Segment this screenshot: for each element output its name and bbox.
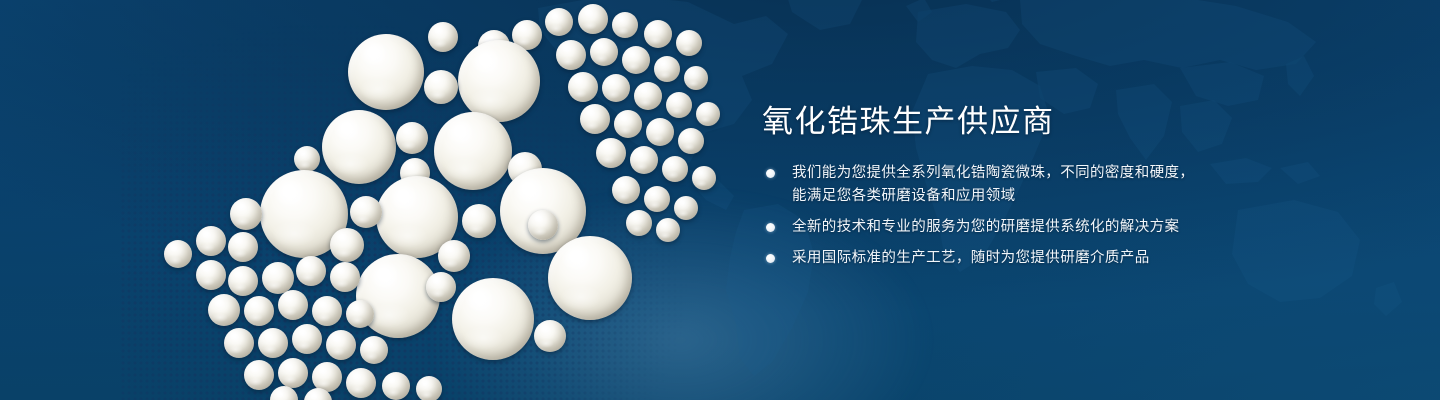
- bead-small: [346, 368, 376, 398]
- bead-small: [258, 328, 288, 358]
- bead-small: [622, 46, 650, 74]
- bead-small: [556, 40, 586, 70]
- bead-small: [662, 156, 688, 182]
- bead-medium: [230, 198, 262, 230]
- bead-small: [360, 336, 388, 364]
- bead-small: [312, 296, 342, 326]
- bead-small: [228, 232, 258, 262]
- bead-small: [545, 8, 573, 36]
- bead-medium: [350, 196, 382, 228]
- bead-small: [224, 328, 254, 358]
- bead-small: [278, 358, 308, 388]
- bead-large: [322, 110, 396, 184]
- bead-small: [674, 196, 698, 220]
- bead-small: [580, 104, 610, 134]
- banner-copy: 氧化锆珠生产供应商 我们能为您提供全系列氧化锆陶瓷微珠，不同的密度和硬度， 能满…: [762, 104, 1322, 270]
- bead-small: [296, 256, 326, 286]
- bead-small: [208, 294, 240, 326]
- bead-small: [270, 386, 298, 400]
- bead-small: [578, 4, 608, 34]
- bead-small: [416, 376, 442, 400]
- list-item-line: 我们能为您提供全系列氧化锆陶瓷微珠，不同的密度和硬度，: [792, 162, 1322, 185]
- bead-small: [278, 290, 308, 320]
- bead-small: [692, 166, 716, 190]
- bead-small: [262, 262, 294, 294]
- bead-small: [676, 30, 702, 56]
- bead-large: [458, 40, 540, 122]
- bead-small: [292, 324, 322, 354]
- bead-small: [196, 260, 226, 290]
- bead-large: [348, 34, 424, 110]
- bead-medium: [426, 272, 456, 302]
- page-title: 氧化锆珠生产供应商: [762, 104, 1322, 140]
- bead-small: [568, 72, 598, 102]
- bead-small: [228, 266, 258, 296]
- list-item-line: 能满足您各类研磨设备和应用领域: [792, 185, 1322, 208]
- bullet-dot-icon: [766, 169, 775, 178]
- bead-medium: [424, 70, 458, 104]
- bead-small: [326, 330, 356, 360]
- bullet-dot-icon: [766, 223, 775, 232]
- bead-small: [614, 110, 642, 138]
- list-item-line: 全新的技术和专业的服务为您的研磨提供系统化的解决方案: [792, 216, 1322, 239]
- bead-small: [196, 226, 226, 256]
- list-item: 采用国际标准的生产工艺，随时为您提供研磨介质产品: [762, 247, 1322, 270]
- bead-small: [244, 360, 274, 390]
- feature-list: 我们能为您提供全系列氧化锆陶瓷微珠，不同的密度和硬度， 能满足您各类研磨设备和应…: [762, 162, 1322, 270]
- bead-large: [548, 236, 632, 320]
- bead-small: [666, 92, 692, 118]
- bead-small: [684, 66, 708, 90]
- bead-large: [434, 112, 512, 190]
- bead-small: [654, 56, 680, 82]
- bead-medium: [528, 210, 558, 240]
- bead-small: [590, 38, 618, 66]
- bead-medium: [330, 228, 364, 262]
- bead-small: [630, 146, 658, 174]
- bead-small: [596, 138, 626, 168]
- bead-small: [164, 240, 192, 268]
- bead-small: [644, 20, 672, 48]
- zirconia-beads-cluster: [0, 0, 760, 400]
- list-item: 我们能为您提供全系列氧化锆陶瓷微珠，不同的密度和硬度， 能满足您各类研磨设备和应…: [762, 162, 1322, 208]
- bead-small: [612, 12, 638, 38]
- bead-medium: [438, 240, 470, 272]
- bead-medium: [428, 22, 458, 52]
- hero-banner: 氧化锆珠生产供应商 我们能为您提供全系列氧化锆陶瓷微珠，不同的密度和硬度， 能满…: [0, 0, 1440, 400]
- bead-small: [602, 74, 630, 102]
- bead-medium: [462, 204, 496, 238]
- bead-small: [626, 210, 652, 236]
- bead-large: [356, 254, 440, 338]
- list-item: 全新的技术和专业的服务为您的研磨提供系统化的解决方案: [762, 216, 1322, 239]
- list-item-line: 采用国际标准的生产工艺，随时为您提供研磨介质产品: [792, 247, 1322, 270]
- bead-small: [330, 262, 360, 292]
- bead-small: [678, 128, 704, 154]
- bead-small: [244, 296, 274, 326]
- bead-small: [646, 118, 674, 146]
- bullet-dot-icon: [766, 254, 775, 263]
- bead-large: [452, 278, 534, 360]
- bead-small: [346, 300, 374, 328]
- bead-small: [612, 176, 640, 204]
- bead-small: [696, 102, 720, 126]
- bead-small: [634, 82, 662, 110]
- bead-medium: [396, 122, 428, 154]
- bead-small: [294, 146, 320, 172]
- bead-small: [644, 186, 670, 212]
- bead-small: [382, 372, 410, 400]
- bead-medium: [534, 320, 566, 352]
- bead-small: [656, 218, 680, 242]
